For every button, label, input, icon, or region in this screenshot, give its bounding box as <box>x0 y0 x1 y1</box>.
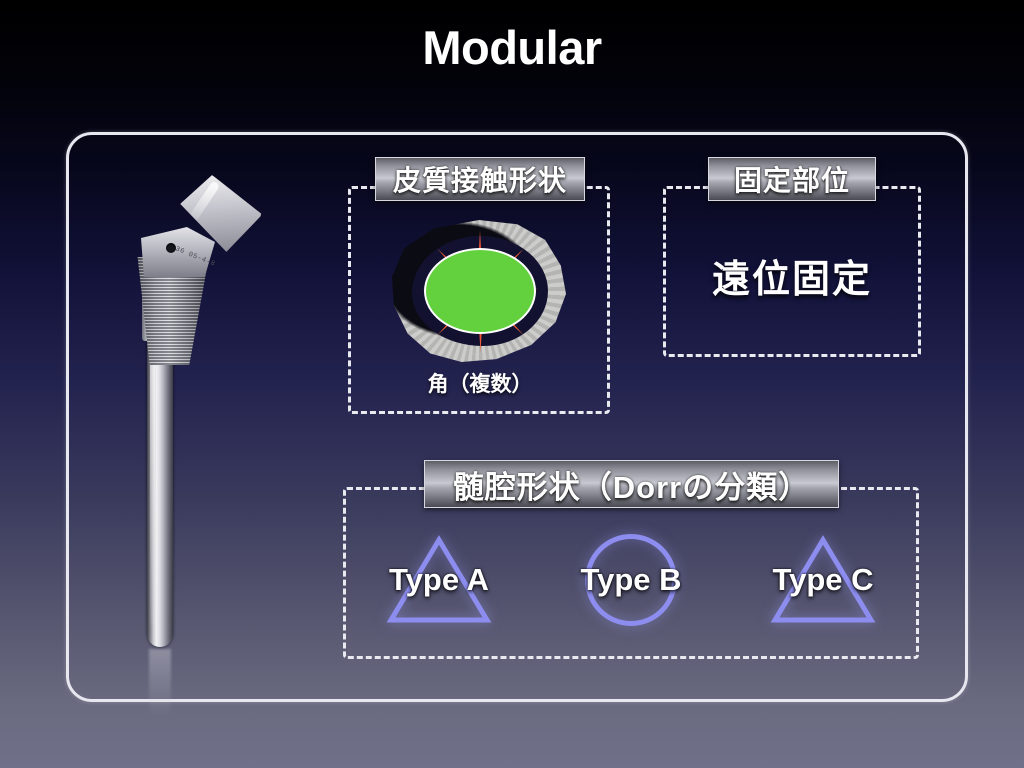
dorr-type-row: Type A Type B Type C <box>343 520 919 640</box>
header-plate-canal-shape: 髄腔形状（Dorrの分類） <box>424 460 839 508</box>
distal-stem-segment <box>147 335 173 647</box>
dorr-type-label: Type B <box>580 562 681 598</box>
dorr-type-item: Type A <box>352 525 527 635</box>
header-plate-fixation-site: 固定部位 <box>708 157 876 201</box>
dorr-type-item: Type B <box>544 525 719 635</box>
stem-reflection <box>149 649 171 717</box>
page-title: Modular <box>0 22 1024 74</box>
implant-cross-section-ellipse <box>424 248 536 334</box>
dorr-type-label: Type A <box>389 562 489 598</box>
modular-femoral-stem-photo: 36 05-4-8 <box>115 175 275 695</box>
dorr-type-item: Type C <box>736 525 911 635</box>
fixation-site-value: 遠位固定 <box>663 248 921 303</box>
header-plate-cortical-contact-shape: 皮質接触形状 <box>375 157 585 201</box>
femoral-canal-cross-section-diagram <box>386 216 574 368</box>
contact-shape-caption: 角（複数） <box>386 368 574 398</box>
dorr-type-label: Type C <box>772 562 873 598</box>
